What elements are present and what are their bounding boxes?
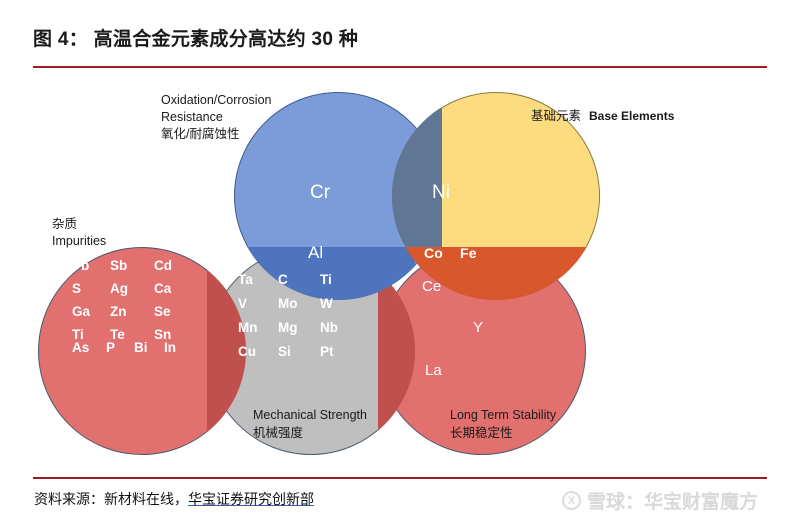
source-organization: 华宝证券研究创新部 xyxy=(188,491,314,507)
element-la: La xyxy=(425,362,442,379)
element-zr: Zr xyxy=(0,168,22,183)
element-fe: Fe xyxy=(460,245,477,261)
figure-page: 图 4： 高温合金元素成分高达约 30 种 Oxidation/Corrosio… xyxy=(0,0,800,523)
annotation-oxidation: Oxidation/Corrosion Resistance 氧化/耐腐蚀性 xyxy=(161,92,271,143)
xueqiu-logo-icon: X xyxy=(562,491,581,510)
impurity-element-row-last: As P Bi In xyxy=(72,340,194,355)
element-c: C xyxy=(278,272,320,287)
element-ce: Ce xyxy=(422,278,441,295)
element-mo: Mo xyxy=(278,296,320,311)
element-o: O xyxy=(0,72,16,88)
element-v: V xyxy=(238,296,278,311)
element-ta: Ta xyxy=(238,272,278,287)
mechanical-element-grid: Ta C Ti V Mo W Mn Mg Nb Cu Si Pt xyxy=(238,272,348,359)
element-p: P xyxy=(106,340,134,355)
annotation-impurities-cn: 杂质 xyxy=(52,216,106,233)
element-si: Si xyxy=(278,344,320,359)
element-bi: Bi xyxy=(134,340,164,355)
element-y: Y xyxy=(473,319,483,336)
impurity-element-grid: Pb Sb Cd S Ag Ca Ga Zn Se Ti Te Sn xyxy=(72,258,190,342)
annotation-base-cn: 基础元素 xyxy=(531,108,581,125)
annotation-mechanical: Mechanical Strength 机械强度 xyxy=(253,406,367,442)
venn-diagram: Oxidation/Corrosion Resistance 氧化/耐腐蚀性 基… xyxy=(0,72,800,472)
element-as: As xyxy=(72,340,106,355)
annotation-mechanical-en: Mechanical Strength xyxy=(253,406,367,424)
annotation-mechanical-cn: 机械强度 xyxy=(253,424,367,442)
element-pt: Pt xyxy=(320,344,350,359)
header-divider xyxy=(33,66,767,68)
watermark-text: 雪球：华宝财富魔方 xyxy=(587,487,758,514)
element-mn: Mn xyxy=(238,320,278,335)
annotation-impurities: 杂质 Impurities xyxy=(52,216,106,250)
element-cu: Cu xyxy=(238,344,278,359)
element-nb: Nb xyxy=(320,320,350,335)
element-cr: Cr xyxy=(310,182,330,204)
element-ti: Ti xyxy=(320,272,350,287)
annotation-oxidation-cn: 氧化/耐腐蚀性 xyxy=(161,126,271,143)
element-re: Re xyxy=(0,220,22,235)
annotation-stability: Long Term Stability 长期稳定性 xyxy=(450,406,556,442)
element-ca: Ca xyxy=(154,281,190,296)
annotation-stability-en: Long Term Stability xyxy=(450,406,556,424)
element-w: W xyxy=(320,296,350,311)
annotation-oxidation-en1: Oxidation/Corrosion xyxy=(161,92,271,109)
element-se: Se xyxy=(154,304,190,319)
element-zn: Zn xyxy=(110,304,154,319)
element-sb: Sb xyxy=(110,258,154,273)
source-note: 资料来源：新材料在线，华宝证券研究创新部 xyxy=(34,489,314,509)
annotation-base-elements: 基础元素 Base Elements xyxy=(531,108,674,125)
footer-divider xyxy=(33,477,767,479)
element-cd: Cd xyxy=(154,258,190,273)
element-in: In xyxy=(164,340,176,355)
element-hf: Hf xyxy=(0,194,22,209)
annotation-impurities-en: Impurities xyxy=(52,233,106,250)
watermark: X 雪球：华宝财富魔方 xyxy=(562,487,758,514)
annotation-stability-cn: 长期稳定性 xyxy=(450,424,556,442)
element-al: Al xyxy=(308,243,323,263)
annotation-oxidation-en2: Resistance xyxy=(161,109,271,126)
element-n: N xyxy=(0,120,16,136)
element-ga: Ga xyxy=(72,304,110,319)
element-mg: Mg xyxy=(278,320,320,335)
source-prefix: 资料来源：新材料在线， xyxy=(34,491,188,507)
element-ag: Ag xyxy=(110,281,154,296)
element-co: Co xyxy=(424,245,443,261)
element-s: S xyxy=(72,281,110,296)
annotation-base-en: Base Elements xyxy=(589,108,674,125)
page-title: 图 4： 高温合金元素成分高达约 30 种 xyxy=(33,24,358,51)
element-ni: Ni xyxy=(432,182,450,204)
element-pb: Pb xyxy=(72,258,110,273)
